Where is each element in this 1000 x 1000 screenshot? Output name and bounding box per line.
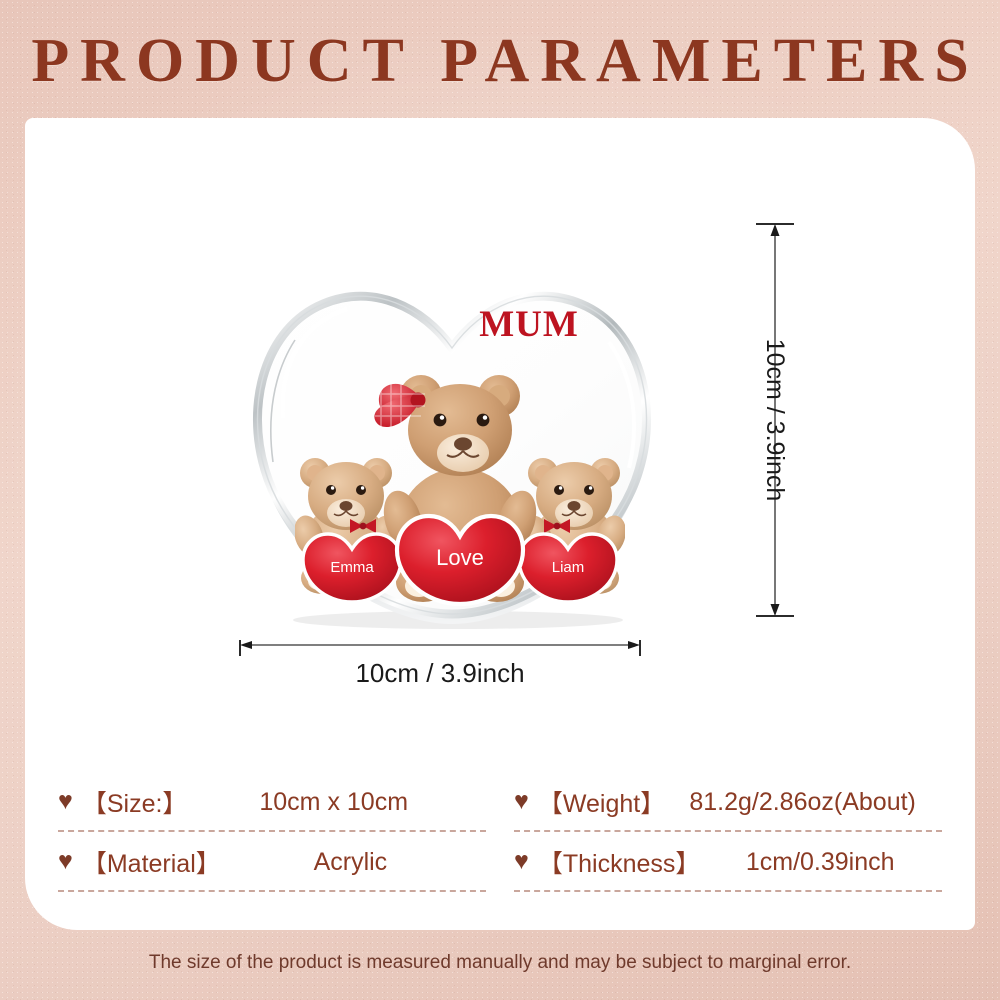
heart-icon: ♥ [514,789,529,814]
heart-icon: ♥ [514,849,529,874]
acrylic-heart-plaque: MUM [243,212,661,637]
spec-value-material: Acrylic [221,848,486,877]
spec-column-left: ♥ 【Size:】 10cm x 10cm ♥ 【Material】 Acryl… [58,772,486,892]
page-title: PRODUCT PARAMETERS [0,28,1000,94]
product-image: MUM [243,212,661,637]
spec-label-weight: 【Weight】 [538,784,665,820]
spec-label-material: 【Material】 [82,844,221,880]
dimension-vertical-label: 10cm / 3.9inch [752,222,798,618]
double-arrow-horizontal-icon [238,640,642,656]
spec-column-right: ♥ 【Weight】 81.2g/2.86oz(About) ♥ 【Thickn… [514,772,942,892]
spec-label-thickness: 【Thickness】 [538,844,701,880]
spec-value-weight: 81.2g/2.86oz(About) [665,788,942,817]
spec-row-weight: ♥ 【Weight】 81.2g/2.86oz(About) [514,772,942,832]
dimension-horizontal [238,640,642,656]
heart-icon: ♥ [58,789,73,814]
engraved-name: MUM [439,305,619,345]
spec-value-thickness: 1cm/0.39inch [700,848,942,877]
heart-label-love: Love [436,545,484,570]
footer-disclaimer: The size of the product is measured manu… [0,952,1000,974]
heart-label-liam: Liam [552,559,585,576]
heart-label-emma: Emma [330,559,374,576]
spec-value-size: 10cm x 10cm [187,788,486,817]
dimension-horizontal-label: 10cm / 3.9inch [238,658,642,689]
spec-row-thickness: ♥ 【Thickness】 1cm/0.39inch [514,832,942,892]
spec-table: ♥ 【Size:】 10cm x 10cm ♥ 【Material】 Acryl… [58,772,942,892]
heart-icon: ♥ [58,849,73,874]
teddy-bear-family-artwork: Emma Liam Love [295,350,625,612]
spec-row-size: ♥ 【Size:】 10cm x 10cm [58,772,486,832]
spec-row-material: ♥ 【Material】 Acrylic [58,832,486,892]
spec-label-size: 【Size:】 [82,784,188,820]
product-parameters-page: PRODUCT PARAMETERS [0,0,1000,1000]
